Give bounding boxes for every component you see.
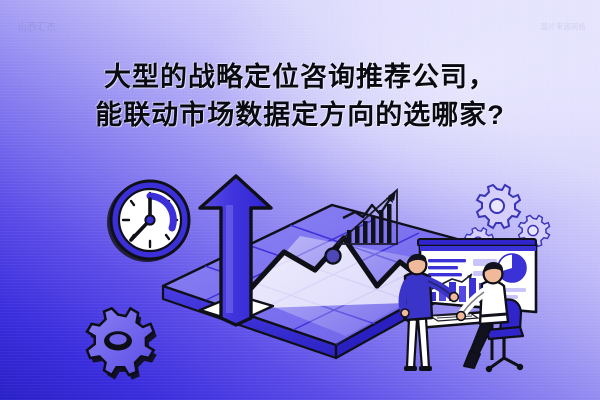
gear-icon xyxy=(477,185,520,228)
page-title: 大型的战略定位咨询推荐公司， 能联动市场数据定方向的选哪家? xyxy=(0,58,600,135)
bar-chart-triangle xyxy=(337,190,397,244)
data-point-marker xyxy=(326,249,341,264)
title-line-2: 能联动市场数据定方向的选哪家? xyxy=(0,96,600,134)
wall-clock xyxy=(107,181,189,262)
banner-root: 山西汇杰 图片来源网络 xyxy=(0,0,600,400)
title-line-1: 大型的战略定位咨询推荐公司， xyxy=(0,58,600,96)
gear-large xyxy=(87,308,157,379)
